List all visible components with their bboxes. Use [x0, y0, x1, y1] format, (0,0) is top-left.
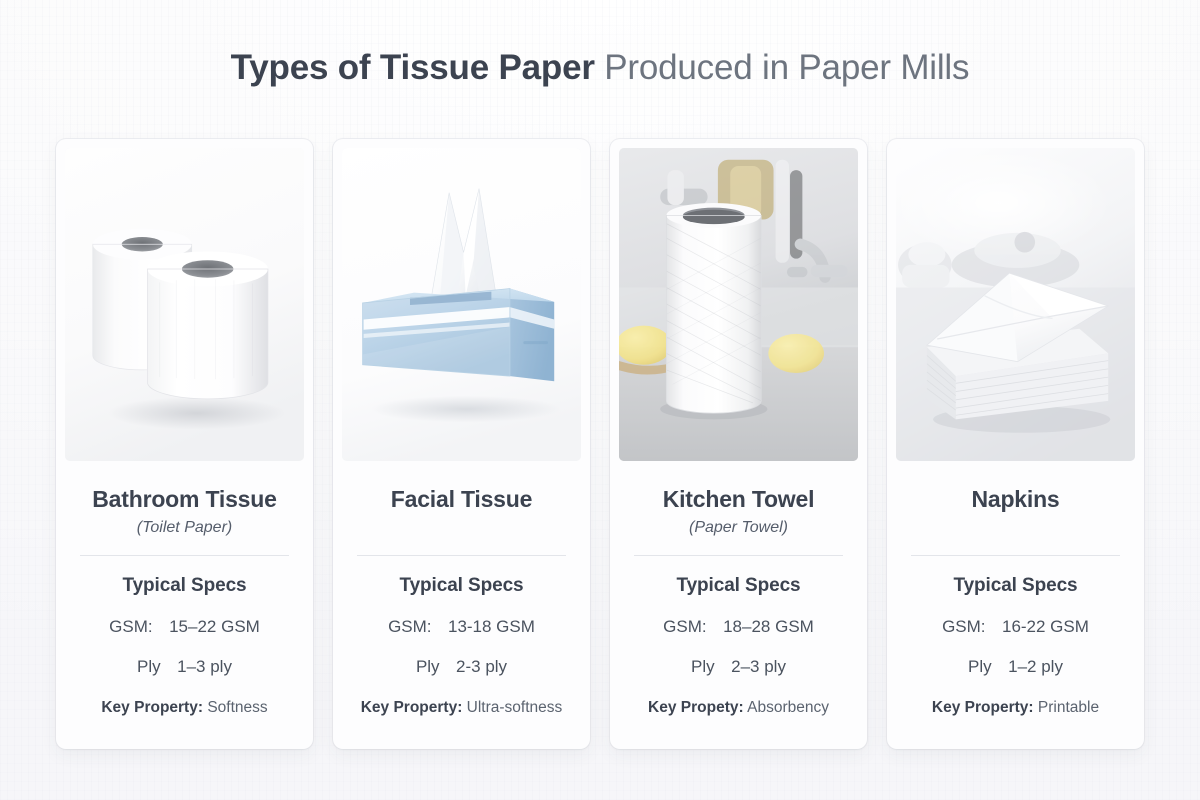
- specs-section: Typical Specs GSM: 13-18 GSM Ply 2-3 ply…: [355, 556, 568, 719]
- spec-row-ply: Ply 2-3 ply: [355, 655, 568, 679]
- specs-section: Typical Specs GSM: 16-22 GSM Ply 1–2 ply…: [909, 556, 1122, 719]
- tissue-card-napkins[interactable]: Napkins Typical Specs GSM: 16-22 GSM Ply…: [887, 139, 1144, 749]
- spec-row-ply: Ply 1–2 ply: [909, 655, 1122, 679]
- card-heading-block: Napkins: [909, 461, 1122, 555]
- key-property-value: Absorbency: [747, 699, 829, 716]
- key-property-separator: :: [1028, 699, 1033, 716]
- card-subtitle: (Paper Towel): [632, 515, 845, 541]
- tissue-card-bathroom-tissue[interactable]: Bathroom Tissue (Toilet Paper) Typical S…: [56, 139, 313, 749]
- key-property-label: Key Property: [932, 699, 1028, 716]
- spec-row-ply: Ply 2–3 ply: [632, 655, 845, 679]
- gsm-value: 13-18 GSM: [448, 617, 535, 636]
- card-subtitle: (Toilet Paper): [78, 515, 291, 541]
- key-property-row: Key Property: Softness: [78, 697, 291, 719]
- gsm-value: 15–22 GSM: [169, 617, 260, 636]
- key-property-value: Softness: [207, 699, 267, 716]
- ply-value: 1–2 ply: [1008, 657, 1063, 676]
- gsm-value: 18–28 GSM: [723, 617, 814, 636]
- ply-value: 2-3 ply: [456, 657, 507, 676]
- key-property-separator: :: [738, 699, 743, 716]
- page-title: Types of Tissue Paper Produced in Paper …: [0, 46, 1200, 90]
- gsm-label: GSM:: [388, 617, 431, 636]
- key-property-label: Key Property: [361, 699, 457, 716]
- specs-heading: Typical Specs: [909, 573, 1122, 599]
- page-title-light: Produced in Paper Mills: [595, 48, 970, 87]
- key-property-row: Key Property: Printable: [909, 697, 1122, 719]
- ply-label: Ply: [968, 657, 992, 676]
- specs-section: Typical Specs GSM: 15–22 GSM Ply 1–3 ply…: [78, 556, 291, 719]
- folded-napkins-stack-photo: [896, 148, 1135, 461]
- facial-tissue-box-photo: [342, 148, 581, 461]
- spec-row-gsm: GSM: 13-18 GSM: [355, 615, 568, 639]
- card-subtitle: [355, 515, 568, 541]
- specs-heading: Typical Specs: [355, 573, 568, 599]
- ply-value: 1–3 ply: [177, 657, 232, 676]
- gsm-label: GSM:: [942, 617, 985, 636]
- specs-section: Typical Specs GSM: 18–28 GSM Ply 2–3 ply…: [632, 556, 845, 719]
- ply-value: 2–3 ply: [731, 657, 786, 676]
- gsm-value: 16-22 GSM: [1002, 617, 1089, 636]
- gsm-label: GSM:: [109, 617, 152, 636]
- key-property-row: Key Propety: Absorbency: [632, 697, 845, 719]
- spec-row-ply: Ply 1–3 ply: [78, 655, 291, 679]
- card-subtitle: [909, 515, 1122, 541]
- ply-label: Ply: [416, 657, 440, 676]
- tissue-type-card-grid: Bathroom Tissue (Toilet Paper) Typical S…: [56, 139, 1144, 749]
- ply-label: Ply: [691, 657, 715, 676]
- card-title: Kitchen Towel: [632, 484, 845, 514]
- specs-heading: Typical Specs: [78, 573, 291, 599]
- spec-row-gsm: GSM: 15–22 GSM: [78, 615, 291, 639]
- card-heading-block: Kitchen Towel (Paper Towel): [632, 461, 845, 555]
- key-property-value: Ultra-softness: [467, 699, 563, 716]
- kitchen-paper-towel-roll-photo: [619, 148, 858, 461]
- key-property-separator: :: [198, 699, 203, 716]
- gsm-label: GSM:: [663, 617, 706, 636]
- card-title: Facial Tissue: [355, 484, 568, 514]
- key-property-separator: :: [457, 699, 462, 716]
- card-heading-block: Facial Tissue: [355, 461, 568, 555]
- spec-row-gsm: GSM: 18–28 GSM: [632, 615, 845, 639]
- tissue-card-kitchen-towel[interactable]: Kitchen Towel (Paper Towel) Typical Spec…: [610, 139, 867, 749]
- key-property-label: Key Property: [101, 699, 197, 716]
- toilet-paper-rolls-photo: [65, 148, 304, 461]
- spec-row-gsm: GSM: 16-22 GSM: [909, 615, 1122, 639]
- tissue-card-facial-tissue[interactable]: Facial Tissue Typical Specs GSM: 13-18 G…: [333, 139, 590, 749]
- key-property-value: Printable: [1038, 699, 1099, 716]
- ply-label: Ply: [137, 657, 161, 676]
- card-title: Bathroom Tissue: [78, 484, 291, 514]
- card-title: Napkins: [909, 484, 1122, 514]
- page-title-strong: Types of Tissue Paper: [231, 48, 595, 87]
- specs-heading: Typical Specs: [632, 573, 845, 599]
- key-property-row: Key Property: Ultra-softness: [355, 697, 568, 719]
- card-heading-block: Bathroom Tissue (Toilet Paper): [78, 461, 291, 555]
- key-property-label: Key Propety: [648, 699, 738, 716]
